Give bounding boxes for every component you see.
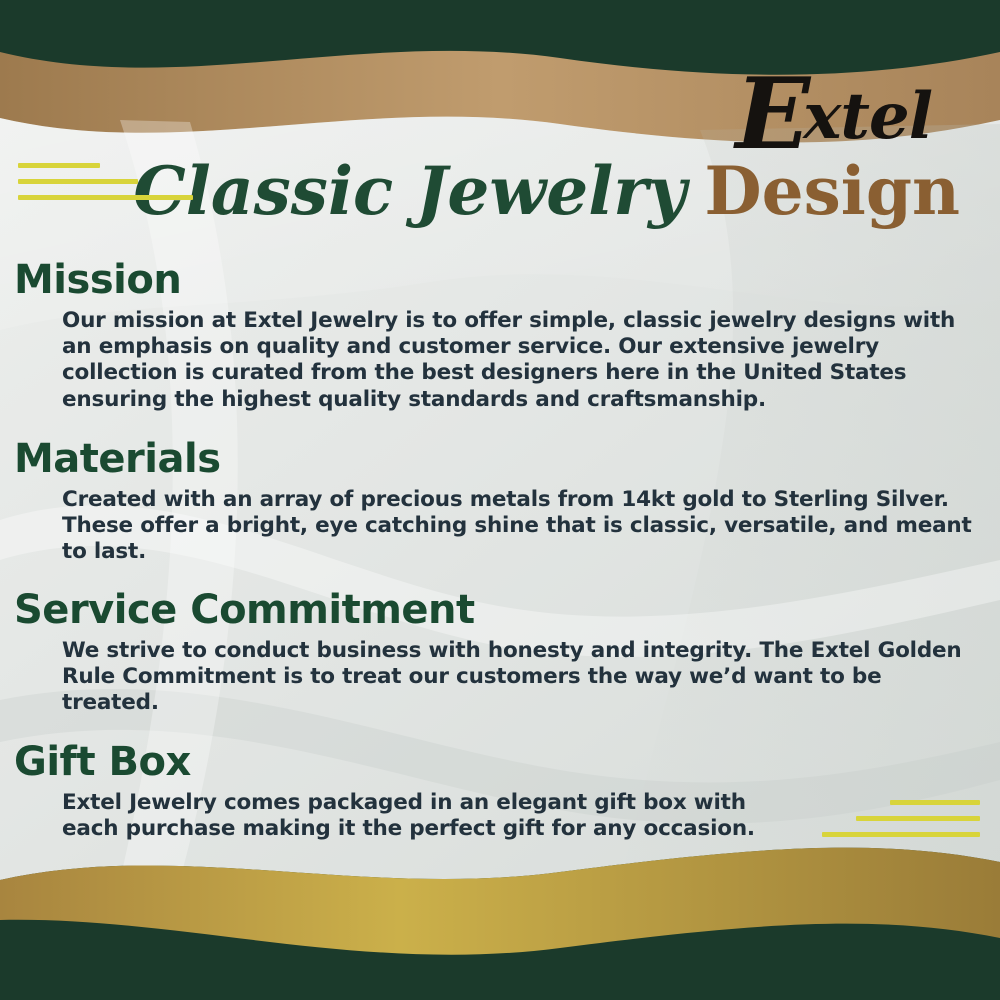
section-title: Mission bbox=[14, 258, 979, 302]
section-title: Gift Box bbox=[14, 740, 979, 784]
section-title: Materials bbox=[14, 437, 979, 481]
section-body: Created with an array of precious metals… bbox=[62, 487, 979, 566]
brand-logo: Extel bbox=[736, 76, 932, 154]
section-body: Our mission at Extel Jewelry is to offer… bbox=[62, 308, 979, 413]
title-part-classic-jewelry: Classic Jewelry bbox=[133, 152, 686, 230]
title-part-design: Design bbox=[704, 152, 960, 230]
section-title: Service Commitment bbox=[14, 588, 979, 632]
rule-line bbox=[18, 163, 100, 168]
section-body: Extel Jewelry comes packaged in an elega… bbox=[62, 790, 782, 842]
section-service-commitment: Service Commitment We strive to conduct … bbox=[14, 588, 979, 717]
decorative-lines-top-left bbox=[18, 163, 193, 211]
section-gift-box: Gift Box Extel Jewelry comes packaged in… bbox=[14, 740, 979, 842]
poster-canvas: Extel Classic JewelryDesign Mission Our … bbox=[0, 0, 1000, 1000]
rule-line bbox=[18, 179, 138, 184]
section-body: We strive to conduct business with hones… bbox=[62, 638, 979, 717]
section-mission: Mission Our mission at Extel Jewelry is … bbox=[14, 258, 979, 413]
section-materials: Materials Created with an array of preci… bbox=[14, 437, 979, 566]
rule-line bbox=[18, 195, 193, 200]
brand-name: xtel bbox=[803, 79, 932, 154]
